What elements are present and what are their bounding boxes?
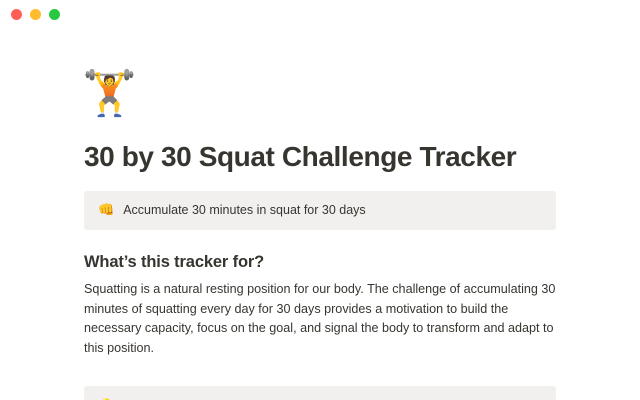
person-lifting-weights-icon[interactable]: 🏋️ [82, 72, 556, 130]
document-page: 🏋️ 30 by 30 Squat Challenge Tracker 👊 Ac… [0, 28, 640, 400]
callout-block[interactable]: 👊 Accumulate 30 minutes in squat for 30 … [84, 191, 556, 230]
toggle-callout-block[interactable]: 💡 How to use the tracker? [84, 386, 556, 400]
minimize-window-button[interactable] [30, 9, 41, 20]
window-titlebar [0, 0, 640, 28]
callout-text: Accumulate 30 minutes in squat for 30 da… [123, 202, 366, 219]
close-window-button[interactable] [11, 9, 22, 20]
page-content: 🏋️ 30 by 30 Squat Challenge Tracker 👊 Ac… [0, 72, 640, 400]
section-heading[interactable]: What’s this tracker for? [84, 230, 556, 277]
section-paragraph[interactable]: Squatting is a natural resting position … [84, 277, 556, 358]
fist-bump-icon: 👊 [98, 202, 114, 219]
maximize-window-button[interactable] [49, 9, 60, 20]
traffic-light-group [11, 9, 60, 20]
page-title[interactable]: 30 by 30 Squat Challenge Tracker [84, 130, 556, 174]
